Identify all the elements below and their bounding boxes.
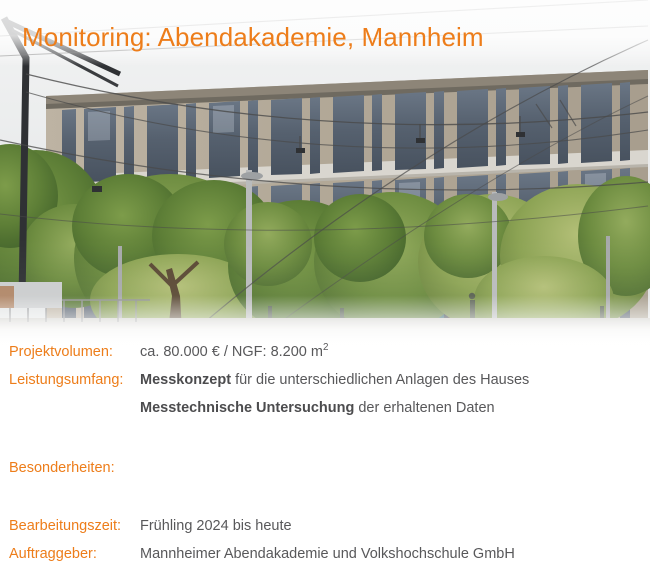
value-leistungsumfang-line1-bold: Messkonzept bbox=[140, 372, 231, 388]
info-row-leistungsumfang: Leistungsumfang: Messkonzept für die unt… bbox=[0, 366, 650, 394]
value-leistungsumfang-line1: Messkonzept für die unterschiedlichen An… bbox=[140, 366, 529, 394]
label-bearbeitungszeit: Bearbeitungszeit: bbox=[0, 512, 140, 540]
info-row-projektvolumen: Projektvolumen: ca. 80.000 € / NGF: 8.20… bbox=[0, 338, 650, 366]
label-besonderheiten: Besonderheiten: bbox=[0, 454, 140, 482]
value-bearbeitungszeit: Frühling 2024 bis heute bbox=[140, 512, 292, 540]
label-projektvolumen: Projektvolumen: bbox=[0, 338, 140, 366]
value-leistungsumfang-line2-bold: Messtechnische Untersuchung bbox=[140, 400, 354, 416]
value-leistungsumfang-line2: Messtechnische Untersuchung der erhalten… bbox=[140, 394, 495, 422]
info-spacer-upper bbox=[0, 422, 650, 454]
value-projektvolumen-superscript: 2 bbox=[323, 342, 328, 353]
label-auftraggeber: Auftraggeber: bbox=[0, 540, 140, 568]
value-projektvolumen-text: ca. 80.000 € / NGF: 8.200 m bbox=[140, 344, 323, 360]
page-title: Monitoring: Abendakademie, Mannheim bbox=[22, 22, 484, 53]
value-projektvolumen: ca. 80.000 € / NGF: 8.200 m2 bbox=[140, 338, 328, 366]
slide: Monitoring: Abendakademie, Mannheim Proj… bbox=[0, 0, 650, 568]
info-spacer-lower bbox=[0, 482, 650, 512]
value-leistungsumfang-line1-rest: für die unterschiedlichen Anlagen des Ha… bbox=[231, 372, 529, 388]
value-auftraggeber: Mannheimer Abendakademie und Volkshochsc… bbox=[140, 540, 515, 568]
value-leistungsumfang-line2-rest: der erhaltenen Daten bbox=[354, 400, 494, 416]
project-info-block: Projektvolumen: ca. 80.000 € / NGF: 8.20… bbox=[0, 338, 650, 568]
info-row-auftraggeber: Auftraggeber: Mannheimer Abendakademie u… bbox=[0, 540, 650, 568]
info-row-besonderheiten: Besonderheiten: bbox=[0, 454, 650, 482]
label-leistungsumfang: Leistungsumfang: bbox=[0, 366, 140, 394]
info-row-leistungsumfang-cont: Leistungsumfang: Messtechnische Untersuc… bbox=[0, 394, 650, 422]
info-row-bearbeitungszeit: Bearbeitungszeit: Frühling 2024 bis heut… bbox=[0, 512, 650, 540]
